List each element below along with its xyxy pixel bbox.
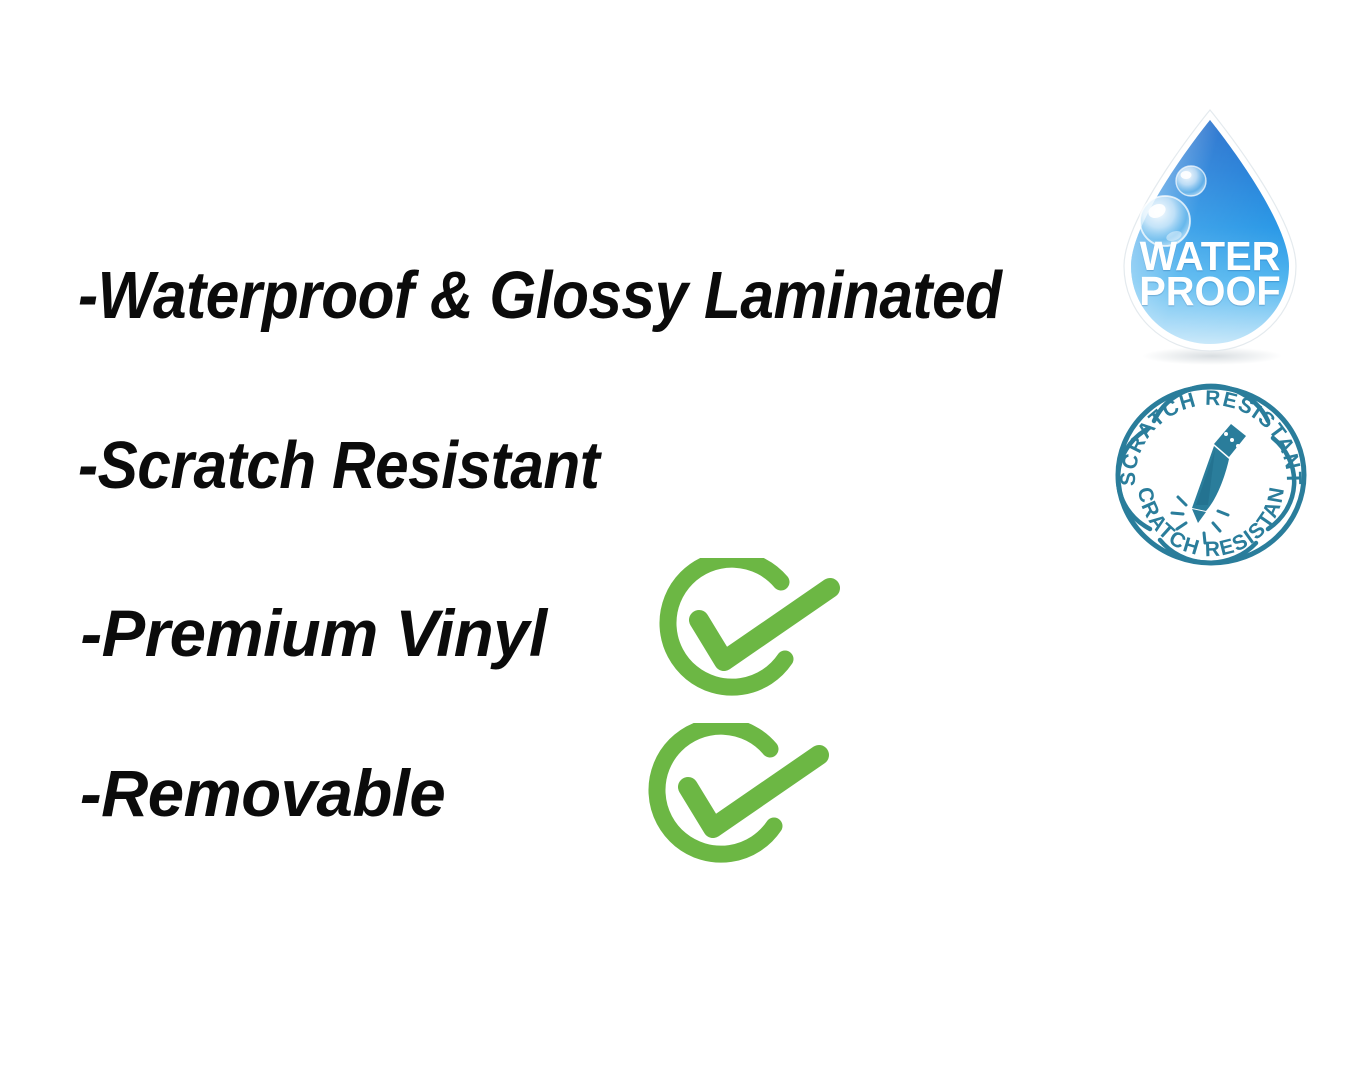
knife-rivet-2: [1230, 438, 1234, 442]
knife-rivet-1: [1224, 432, 1228, 436]
check-circle-icon: [630, 723, 830, 881]
waterproof-badge: WATER PROOF: [1100, 104, 1320, 366]
checkmark-removable: [630, 723, 830, 881]
product-feature-graphic: -Waterproof & Glossy Laminated -Scratch …: [0, 0, 1359, 1080]
bubble-small-highlight: [1181, 171, 1192, 179]
check-circle-icon: [641, 558, 841, 713]
knife-rivet-3: [1236, 444, 1240, 448]
knife-stamp-icon: SCRATCH RESISTANT SCRATCH RESISTANT: [1108, 383, 1314, 567]
feature-item-waterproof-glossy-laminated: -Waterproof & Glossy Laminated: [78, 262, 1002, 329]
check-mark: [688, 755, 819, 828]
check-mark: [699, 588, 830, 661]
feature-item-removable: -Removable: [80, 760, 445, 826]
knife-tip: [1192, 509, 1206, 523]
knife-icon: [1172, 424, 1246, 543]
waterproof-label-line-2: PROOF: [1103, 271, 1316, 312]
checkmark-premium-vinyl: [641, 558, 841, 713]
scratch-resistant-badge: SCRATCH RESISTANT SCRATCH RESISTANT: [1108, 383, 1314, 567]
feature-item-premium-vinyl: -Premium Vinyl: [80, 600, 546, 666]
feature-item-scratch-resistant: -Scratch Resistant: [78, 432, 599, 499]
